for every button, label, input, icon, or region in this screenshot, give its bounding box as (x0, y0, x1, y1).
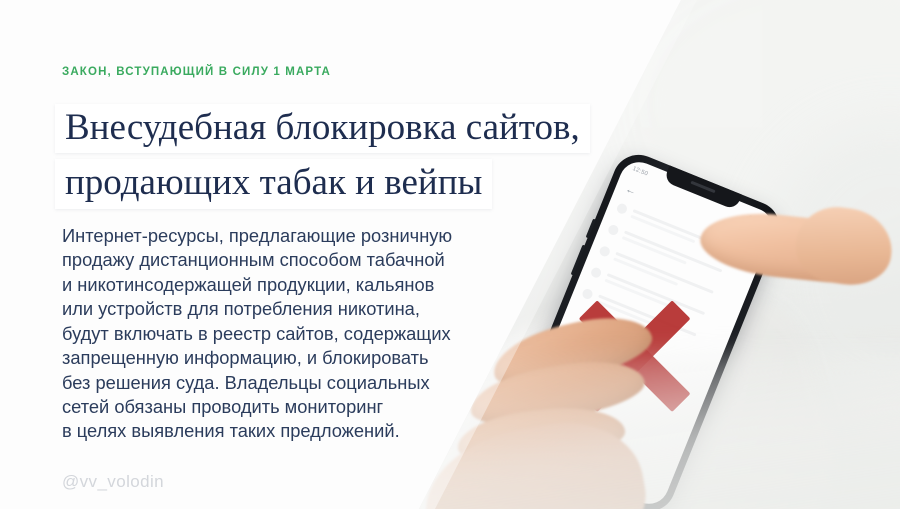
status-bar-time: 12:50 (632, 166, 649, 178)
body-paragraph: Интернет-ресурсы, предлагающие розничную… (62, 224, 522, 444)
eyebrow-label: ЗАКОН, ВСТУПАЮЩИЙ В СИЛУ 1 МАРТА (62, 66, 331, 78)
body-line: запрещенную информацию, и блокировать (62, 346, 522, 370)
page-title: Внесудебная блокировка сайтов, продающих… (55, 104, 590, 209)
headline-line: Внесудебная блокировка сайтов, (55, 104, 590, 153)
list-item-avatar (598, 245, 611, 258)
back-arrow-icon: ← (623, 184, 637, 198)
list-item-avatar (615, 202, 628, 215)
text-panel: ЗАКОН, ВСТУПАЮЩИЙ В СИЛУ 1 МАРТА Внесуде… (0, 0, 540, 509)
body-line: будут включать в реестр сайтов, содержащ… (62, 322, 522, 346)
body-line: или устройств для потребления никотина, (62, 297, 522, 321)
body-line: Интернет-ресурсы, предлагающие розничную (62, 224, 522, 248)
body-line: продажу дистанционным способом табачной (62, 248, 522, 272)
list-item-avatar (607, 224, 620, 237)
list-item-avatar (590, 266, 603, 279)
body-line: и никотинсодержащей продукции, кальянов (62, 273, 522, 297)
hand-pointing-at-screen (700, 206, 886, 302)
social-handle-watermark: @vv_volodin (62, 472, 164, 492)
body-line: без решения суда. Владельцы социальных (62, 371, 522, 395)
headline-line: продающих табак и вейпы (55, 159, 492, 208)
social-card: 12:50 ← (0, 0, 900, 509)
body-line: сетей обязаны проводить мониторинг (62, 395, 522, 419)
body-line: в целях выявления таких предложений. (62, 419, 522, 443)
